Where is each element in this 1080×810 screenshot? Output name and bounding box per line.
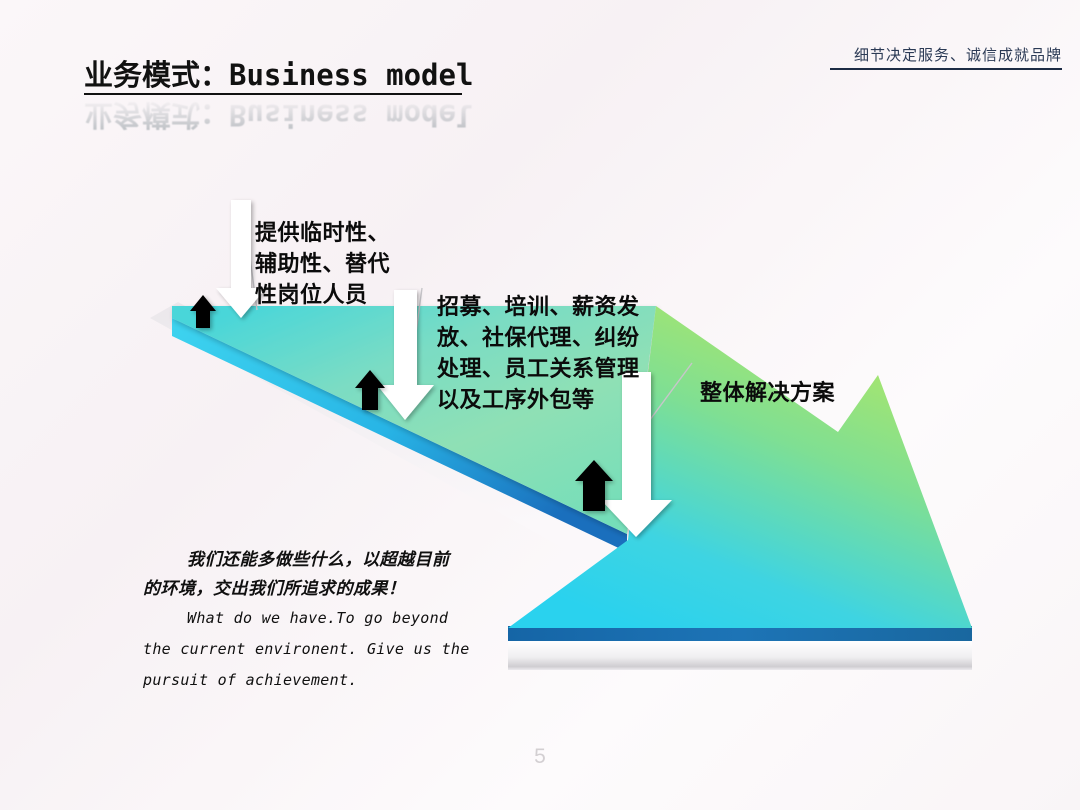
quote-block: 我们还能多做些什么，以超越目前 的环境，交出我们所追求的成果！ What do … — [143, 545, 493, 696]
quote-cn-line-2: 的环境，交出我们所追求的成果！ — [143, 574, 493, 603]
header-tagline-rule — [830, 68, 1062, 70]
quote-en-line-2: the current environent. Give us the — [143, 634, 493, 665]
header-tagline-text: 细节决定服务、诚信成就品牌 — [802, 44, 1062, 65]
title-reflection-text: 业务模式：Business model — [84, 96, 473, 134]
up-arrow-2 — [355, 370, 385, 410]
page-number: 5 — [0, 745, 1080, 769]
title-reflection: 业务模式：Business model — [84, 96, 473, 134]
page-title: 业务模式：Business model — [84, 56, 724, 94]
quote-cn-line-1: 我们还能多做些什么，以超越目前 — [143, 545, 493, 574]
slide-canvas: 细节决定服务、诚信成就品牌 业务模式：Business model 业务模式：B… — [0, 0, 1080, 810]
base-shadow-slab — [508, 641, 972, 670]
quote-en-line-1: What do we have.To go beyond — [143, 603, 493, 634]
chevron-base-edge — [508, 626, 972, 641]
callout-temporary-staffing: 提供临时性、 辅助性、替代 性岗位人员 — [255, 217, 455, 310]
up-arrow-3 — [575, 460, 613, 511]
callout-hr-services: 招募、培训、薪资发 放、社保代理、纠纷 处理、员工关系管理 以及工序外包等 — [437, 291, 667, 415]
slide-title-block: 业务模式：Business model 业务模式：Business model — [84, 56, 724, 136]
header-tagline: 细节决定服务、诚信成就品牌 — [802, 44, 1062, 70]
title-underline — [84, 93, 462, 95]
callout-total-solution: 整体解决方案 — [700, 379, 900, 407]
up-arrow-1 — [190, 295, 216, 328]
quote-en-line-3: pursuit of achievement. — [143, 665, 493, 696]
